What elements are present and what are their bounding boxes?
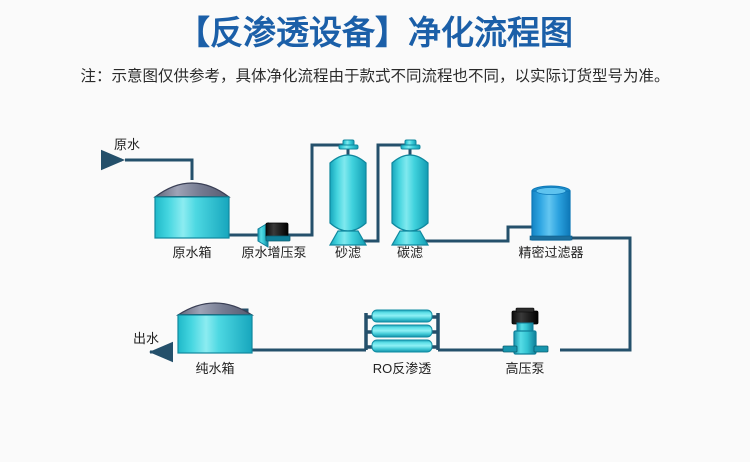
ro-membrane-tube-2: [372, 325, 432, 337]
hp-pump-suction-port: [503, 346, 517, 352]
sand-filter-label: 砂滤: [335, 245, 361, 260]
sand-filter-flange: [339, 145, 358, 149]
carbon-filter-label: 碳滤: [397, 245, 423, 260]
raw-water-booster-pump-label: 原水增压泵: [241, 245, 306, 260]
ro-membrane-tube-1: [372, 310, 432, 322]
sand-filter-body: [330, 155, 366, 231]
precision-filter-base: [530, 236, 572, 240]
precision-filter-top-ring: [536, 188, 566, 195]
outlet-label: 出水: [133, 331, 159, 346]
ro-membrane[interactable]: [366, 310, 438, 352]
raw-water-tank-body: [155, 197, 229, 238]
ro-membrane-label: RO反渗透: [373, 361, 432, 376]
precision-filter-body: [532, 191, 570, 240]
purification-process-diagram: 原水箱 原水增压泵 砂滤 碳滤: [0, 105, 750, 462]
booster-pump-base: [266, 236, 290, 241]
hp-pump-discharge-port: [534, 346, 548, 352]
ro-membrane-tube-3: [372, 340, 432, 352]
precision-filter[interactable]: [530, 186, 572, 240]
page-note: 注：示意图仅供参考，具体净化流程由于款式不同流程也不同，以实际订货型号为准。: [0, 54, 750, 88]
hp-pump-motor: [512, 311, 538, 324]
carbon-filter-body: [392, 155, 428, 231]
flow-diagram-page: 【反渗透设备】净化流程图 注：示意图仅供参考，具体净化流程由于款式不同流程也不同…: [0, 0, 750, 462]
raw-water-tank-label: 原水箱: [172, 245, 211, 260]
page-header: 【反渗透设备】净化流程图 注：示意图仅供参考，具体净化流程由于款式不同流程也不同…: [0, 0, 750, 88]
raw-water-tank[interactable]: [155, 183, 229, 240]
carbon-filter-flange: [401, 145, 420, 149]
pure-water-tank-label: 纯水箱: [195, 361, 234, 376]
pure-water-tank[interactable]: [178, 303, 252, 353]
inlet-label: 原水: [114, 137, 140, 152]
hp-pump-motor-cap: [516, 308, 534, 312]
precision-filter-label: 精密过滤器: [518, 245, 583, 260]
pure-water-tank-body: [178, 315, 252, 353]
high-pressure-pump-label: 高压泵: [505, 361, 544, 376]
page-title: 【反渗透设备】净化流程图: [0, 0, 750, 54]
